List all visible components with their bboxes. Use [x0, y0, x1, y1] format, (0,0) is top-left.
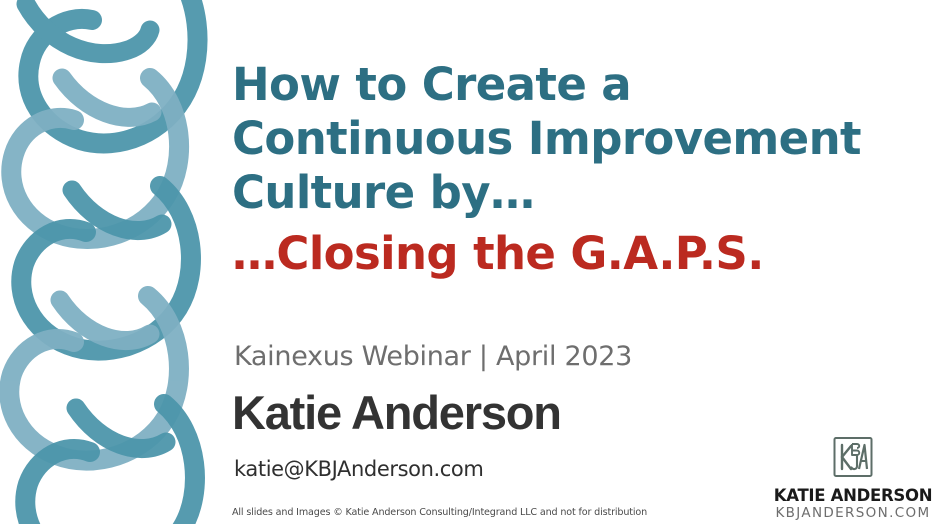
spiral-swirl-decoration [0, 0, 215, 524]
slide-title: How to Create a Continuous Improvement C… [232, 58, 932, 282]
copyright-notice: All slides and Images © Katie Anderson C… [232, 506, 647, 519]
brand-website: KBJANDERSON.COM [764, 505, 942, 522]
presenter-email: katie@KBJAnderson.com [234, 456, 483, 482]
title-line-3: Culture by… [232, 166, 932, 220]
spiral-swirl-graphic [0, 0, 215, 524]
title-line-2: Continuous Improvement [232, 112, 932, 166]
kbja-monogram-icon [829, 433, 877, 481]
presentation-title-slide: How to Create a Continuous Improvement C… [0, 0, 942, 524]
brand-name: KATIE ANDERSON [764, 486, 942, 505]
title-accent-line: …Closing the G.A.P.S. [232, 226, 932, 282]
slide-content: How to Create a Continuous Improvement C… [232, 0, 942, 524]
brand-logo: KATIE ANDERSON KBJANDERSON.COM [764, 433, 942, 522]
title-line-1: How to Create a [232, 58, 932, 112]
presenter-name: Katie Anderson [232, 385, 561, 441]
event-subtitle: Kainexus Webinar | April 2023 [234, 341, 632, 373]
